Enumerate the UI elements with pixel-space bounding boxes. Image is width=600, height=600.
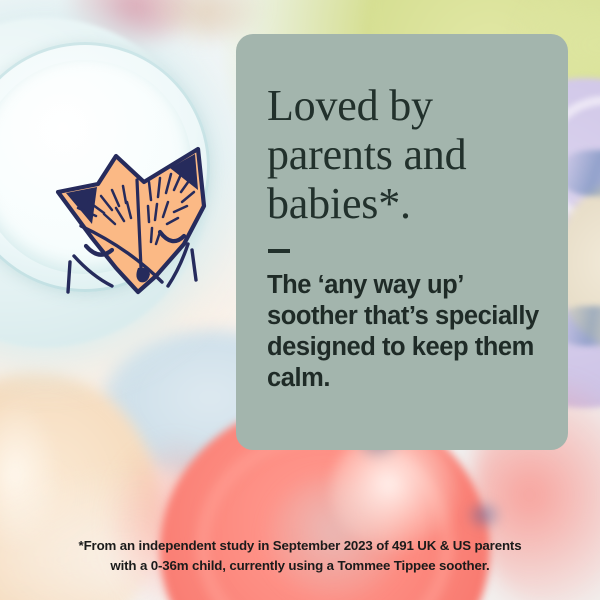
ad-creative: Loved by parents and babies*. The ‘any w… [0,0,600,600]
message-card: Loved by parents and babies*. The ‘any w… [236,34,568,450]
card-content: Loved by parents and babies*. The ‘any w… [267,82,546,394]
divider-dash [268,249,290,253]
coral-soother-navy-mark-b [466,500,502,530]
footnote: *From an independent study in September … [0,536,600,575]
footnote-line-1: *From an independent study in September … [0,536,600,556]
footnote-line-2: with a 0-36m child, currently using a To… [0,556,600,576]
fox-face-icon [52,140,222,320]
subheadline: The ‘any way up’ soother that’s speciall… [267,270,546,394]
headline: Loved by parents and babies*. [267,82,546,228]
